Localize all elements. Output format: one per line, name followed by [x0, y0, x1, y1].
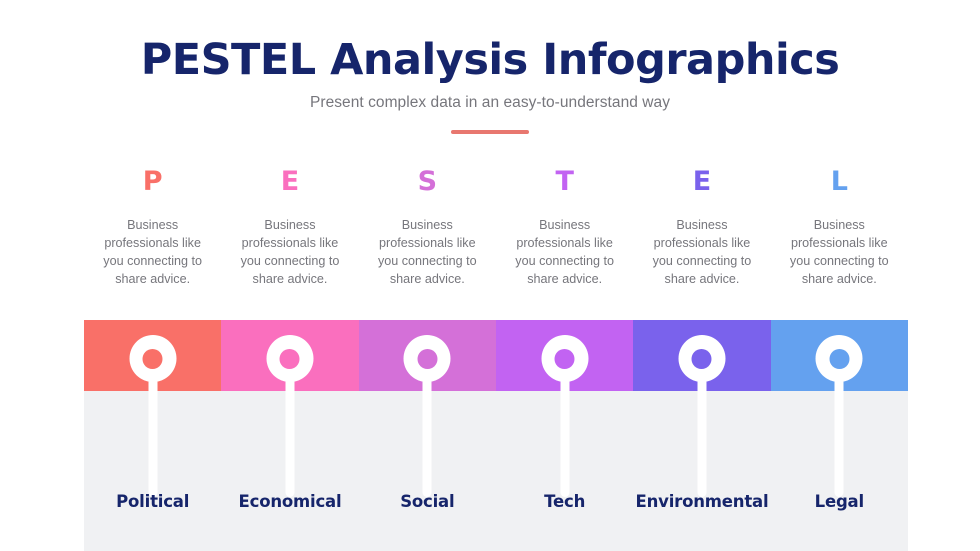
- page-subtitle: Present complex data in an easy-to-under…: [0, 94, 980, 112]
- column-economical: E Business professionals like you connec…: [221, 168, 358, 289]
- column-environmental: E Business professionals like you connec…: [633, 168, 770, 289]
- map-pin-icon-economical[interactable]: [266, 335, 313, 497]
- pin-cell-economical: [221, 320, 358, 551]
- category-label-legal: Legal: [815, 492, 864, 511]
- pin-head-tech: [541, 335, 588, 382]
- pin-stem-political: [148, 377, 157, 497]
- category-label-social: Social: [400, 492, 454, 511]
- letter-badge-e2: E: [693, 168, 711, 198]
- pin-hole-environmental: [692, 349, 712, 369]
- letter-badge-p: P: [143, 168, 163, 198]
- pin-head-legal: [816, 335, 863, 382]
- pin-stem-economical: [285, 377, 294, 497]
- column-social: S Business professionals like you connec…: [359, 168, 496, 289]
- map-pin-icon-legal[interactable]: [816, 335, 863, 497]
- pin-hole-political: [143, 349, 163, 369]
- pin-head-social: [404, 335, 451, 382]
- column-description-economical: Business professionals like you connecti…: [230, 217, 349, 289]
- column-tech: T Business professionals like you connec…: [496, 168, 633, 289]
- label-cell-legal: Legal: [771, 492, 908, 512]
- map-pin-icon-tech[interactable]: [541, 335, 588, 497]
- category-label-economical: Economical: [239, 492, 342, 511]
- pin-stem-environmental: [697, 377, 706, 497]
- column-legal: L Business professionals like you connec…: [771, 168, 908, 289]
- pestel-infographic-slide: PESTEL Analysis Infographics Present com…: [0, 0, 980, 551]
- pin-hole-economical: [280, 349, 300, 369]
- column-description-political: Business professionals like you connecti…: [93, 217, 212, 289]
- column-political: P Business professionals like you connec…: [84, 168, 221, 289]
- letter-badge-l: L: [831, 168, 848, 198]
- label-cell-political: Political: [84, 492, 221, 512]
- pin-head-economical: [266, 335, 313, 382]
- label-cell-social: Social: [359, 492, 496, 512]
- pin-hole-legal: [829, 349, 849, 369]
- category-label-tech: Tech: [544, 492, 585, 511]
- pestel-columns: P Business professionals like you connec…: [84, 168, 908, 289]
- map-pin-icon-social[interactable]: [404, 335, 451, 497]
- column-description-social: Business professionals like you connecti…: [368, 217, 487, 289]
- label-cell-tech: Tech: [496, 492, 633, 512]
- pin-cell-legal: [771, 320, 908, 551]
- label-cell-economical: Economical: [221, 492, 358, 512]
- pin-hole-social: [417, 349, 437, 369]
- pin-cell-social: [359, 320, 496, 551]
- column-description-legal: Business professionals like you connecti…: [780, 217, 899, 289]
- letter-badge-e1: E: [281, 168, 299, 198]
- timeline-panel: [84, 320, 908, 551]
- label-cell-environmental: Environmental: [633, 492, 770, 512]
- column-description-tech: Business professionals like you connecti…: [505, 217, 624, 289]
- pin-stem-tech: [560, 377, 569, 497]
- page-title: PESTEL Analysis Infographics: [0, 38, 980, 83]
- pin-stem-social: [423, 377, 432, 497]
- letter-badge-s: S: [418, 168, 437, 198]
- category-label-political: Political: [116, 492, 189, 511]
- letter-badge-t: T: [555, 168, 573, 198]
- pin-cell-political: [84, 320, 221, 551]
- slide-header: PESTEL Analysis Infographics Present com…: [0, 38, 980, 134]
- column-description-environmental: Business professionals like you connecti…: [642, 217, 761, 289]
- pin-stem-legal: [835, 377, 844, 497]
- pin-head-environmental: [678, 335, 725, 382]
- pin-head-political: [129, 335, 176, 382]
- pin-hole-tech: [555, 349, 575, 369]
- category-label-environmental: Environmental: [636, 492, 769, 511]
- map-pin-icon-political[interactable]: [129, 335, 176, 497]
- pin-cell-environmental: [633, 320, 770, 551]
- pin-markers: [84, 320, 908, 551]
- pin-cell-tech: [496, 320, 633, 551]
- accent-divider: [451, 130, 529, 134]
- category-labels: Political Economical Social Tech Environ…: [84, 492, 908, 512]
- map-pin-icon-environmental[interactable]: [678, 335, 725, 497]
